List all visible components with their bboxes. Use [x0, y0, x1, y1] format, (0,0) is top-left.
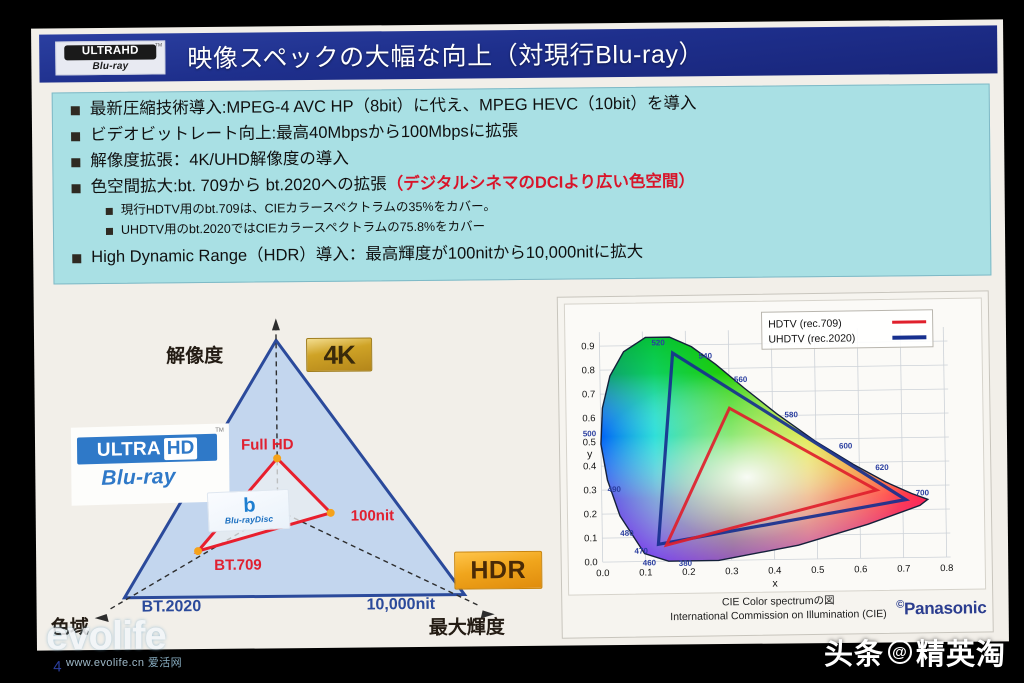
- presentation-slide: TM ULTRAHD Blu-ray 映像スペックの大幅な向上（対現行Blu-r…: [31, 19, 1009, 650]
- vertex-label-bt2020: BT.2020: [142, 598, 202, 617]
- bullet-item-compression: 最新圧縮技術導入:MPEG-4 AVC HP（8bit）に代え、MPEG HEV…: [71, 90, 989, 119]
- legend-label: HDTV (rec.709): [768, 317, 842, 330]
- badge-hdr: HDR: [454, 551, 542, 590]
- watermark-toutiao-user: 精英淘: [916, 631, 1006, 673]
- svg-text:0.2: 0.2: [584, 509, 597, 520]
- bullet-text: 色空間拡大:bt. 709から bt.2020への拡張: [90, 176, 386, 197]
- bullet-item-colorspace: 色空間拡大:bt. 709から bt.2020への拡張（デジタルシネマのDCIよ…: [71, 169, 989, 198]
- bullet-text: High Dynamic Range（HDR）導入：最高輝度が100nitから1…: [91, 241, 643, 266]
- bullet-square-icon: [106, 207, 113, 214]
- svg-text:0.4: 0.4: [583, 461, 596, 472]
- svg-text:620: 620: [875, 463, 889, 472]
- vertex-dot-bt709: [194, 547, 202, 555]
- vertex-dot-100nit: [327, 509, 335, 517]
- vertex-label-100nit: 100nit: [351, 507, 395, 524]
- axis-label-luminance: 最大輝度: [429, 612, 505, 640]
- cie-legend: HDTV (rec.709) UHDTV (rec.2020): [761, 309, 934, 350]
- slide-page-number: 4: [53, 658, 62, 675]
- panasonic-label: Panasonic: [904, 598, 987, 618]
- bullet-content-box: 最新圧縮技術導入:MPEG-4 AVC HP（8bit）に代え、MPEG HEV…: [52, 83, 992, 284]
- svg-text:480: 480: [620, 529, 634, 538]
- copyright-icon: ©: [896, 599, 904, 611]
- bullet-text: UHDTV用のbt.2020ではCIEカラースペクトラムの75.8%をカバー: [121, 219, 485, 237]
- bullet-text-highlight: （デジタルシネマのDCIより広い色空間）: [387, 173, 695, 194]
- ultra-text: ULTRA: [97, 438, 161, 462]
- svg-text:700: 700: [916, 488, 930, 497]
- svg-text:380: 380: [679, 559, 693, 568]
- axis-arrow-gamut: [95, 614, 109, 622]
- svg-text:0.8: 0.8: [582, 365, 595, 376]
- svg-text:0.0: 0.0: [584, 557, 597, 568]
- cie-x-axis-label: x: [772, 578, 778, 590]
- ultra-hd-wordmark: ULTRA HD: [77, 434, 217, 465]
- svg-text:540: 540: [699, 351, 713, 360]
- legend-swatch-blue: [892, 335, 926, 340]
- watermark-cn-text: 爱活网: [148, 657, 182, 669]
- svg-text:0.0: 0.0: [596, 568, 609, 579]
- hd-text: HD: [164, 437, 198, 460]
- svg-text:0.7: 0.7: [582, 389, 595, 400]
- legend-swatch-red: [892, 320, 926, 324]
- bullet-text: 最新圧縮技術導入:MPEG-4 AVC HP（8bit）に代え、MPEG HEV…: [90, 93, 697, 119]
- svg-text:0.7: 0.7: [897, 564, 910, 575]
- vertex-label-fullhd: Full HD: [241, 436, 294, 454]
- ultra-hd-bluray-logo-header: TM ULTRAHD Blu-ray: [55, 40, 165, 75]
- vertex-label-bt709: BT.709: [214, 556, 262, 573]
- svg-text:0.3: 0.3: [725, 566, 738, 577]
- trademark-mark-icon: TM: [155, 42, 162, 48]
- bullet-item-resolution: 解像度拡張：4K/UHD解像度の導入: [71, 143, 989, 172]
- axis-label-gamut: 色域: [51, 612, 89, 639]
- watermark-toutiao-text: 头条: [824, 631, 884, 673]
- bullet-square-icon: [71, 106, 80, 115]
- bullet-text: 解像度拡張：4K/UHD解像度の導入: [90, 149, 349, 172]
- bullet-text-wrap: 色空間拡大:bt. 709から bt.2020への拡張（デジタルシネマのDCIよ…: [90, 172, 695, 198]
- watermark-toutiao: 头条 @ 精英淘: [824, 631, 1006, 673]
- hd-text: HD: [121, 46, 138, 58]
- bullet-item-bitrate: ビデオビットレート向上:最高40Mbpsから100Mbpsに拡張: [71, 117, 989, 146]
- svg-text:460: 460: [643, 558, 657, 567]
- axis-arrow-resolution: [272, 318, 280, 330]
- screenshot-root: TM ULTRAHD Blu-ray 映像スペックの大幅な向上（対現行Blu-r…: [0, 0, 1024, 683]
- bluray-disc-label: Blu-rayDisc: [225, 513, 274, 525]
- watermark-evolife-url: www.evolife.cn 爱活网: [66, 654, 182, 670]
- bullet-square-icon: [106, 227, 113, 234]
- svg-text:0.1: 0.1: [639, 567, 652, 578]
- svg-text:0.1: 0.1: [584, 533, 597, 544]
- legend-label: UHDTV (rec.2020): [768, 332, 855, 345]
- bullet-text: ビデオビットレート向上:最高40Mbpsから100Mbpsに拡張: [90, 121, 518, 145]
- svg-text:0.3: 0.3: [583, 485, 596, 496]
- axis-label-resolution: 解像度: [166, 341, 223, 369]
- svg-text:0.9: 0.9: [581, 341, 594, 352]
- bullet-subitem-hdtv-coverage: 現行HDTV用のbt.709は、CIEカラースペクトラムの35%をカバー。: [106, 194, 990, 217]
- svg-text:520: 520: [651, 338, 665, 347]
- svg-text:0.6: 0.6: [582, 413, 595, 424]
- bluray-text: Blu-ray: [92, 60, 128, 71]
- bullet-item-hdr: High Dynamic Range（HDR）導入：最高輝度が100nitから1…: [72, 238, 990, 267]
- svg-text:0.5: 0.5: [583, 437, 596, 448]
- vertex-label-10000nit: 10,000nit: [367, 596, 436, 615]
- svg-text:560: 560: [734, 375, 748, 384]
- svg-text:490: 490: [608, 485, 622, 494]
- svg-text:0.2: 0.2: [682, 567, 695, 578]
- cie-y-axis-label: y: [587, 448, 593, 460]
- svg-text:580: 580: [784, 410, 798, 419]
- watermark-url-text: www.evolife.cn: [66, 657, 144, 669]
- bullet-subitem-uhdtv-coverage: UHDTV用のbt.2020ではCIEカラースペクトラムの75.8%をカバー: [106, 214, 990, 237]
- bluray-symbol-icon: b: [243, 497, 254, 514]
- ultra-hd-wordmark: ULTRAHD: [64, 44, 156, 60]
- bluray-text: Blu-ray: [101, 465, 176, 491]
- ultra-text: ULTRA: [82, 46, 122, 58]
- trademark-mark-icon: TM: [215, 428, 224, 434]
- bullet-square-icon: [72, 185, 81, 194]
- bluray-disc-logo: b Blu-rayDisc: [207, 489, 291, 533]
- svg-text:0.8: 0.8: [940, 563, 953, 574]
- vertex-dot-fullhd: [273, 454, 281, 462]
- bullet-text: 現行HDTV用のbt.709は、CIEカラースペクトラムの35%をカバー。: [121, 199, 496, 218]
- badge-4k: 4K: [306, 337, 372, 372]
- cie-plot-area: 0.00.1 0.20.3 0.40.5 0.60.7 0.80.9 y 0.0…: [564, 297, 986, 595]
- cie-color-gamut-fill: [585, 319, 969, 575]
- svg-text:0.6: 0.6: [854, 564, 867, 575]
- svg-text:600: 600: [839, 441, 853, 450]
- slide-title-bar: TM ULTRAHD Blu-ray 映像スペックの大幅な向上（対現行Blu-r…: [39, 25, 997, 82]
- bullet-square-icon: [71, 132, 80, 141]
- svg-text:0.5: 0.5: [811, 565, 824, 576]
- bullet-square-icon: [71, 158, 80, 167]
- svg-text:470: 470: [634, 546, 648, 555]
- panasonic-brand: ©Panasonic: [896, 597, 986, 619]
- page-title: 映像スペックの大幅な向上（対現行Blu-ray）: [187, 34, 704, 75]
- ultra-hd-bluray-logo-diagram: TM ULTRA HD Blu-ray: [71, 423, 230, 505]
- bullet-square-icon: [72, 254, 81, 263]
- legend-item-uhdtv: UHDTV (rec.2020): [768, 329, 926, 346]
- at-sign-icon: @: [888, 640, 912, 664]
- svg-text:0.4: 0.4: [768, 565, 781, 576]
- svg-text:500: 500: [583, 429, 597, 438]
- cie-chromaticity-panel: 0.00.1 0.20.3 0.40.5 0.60.7 0.80.9 y 0.0…: [557, 290, 994, 638]
